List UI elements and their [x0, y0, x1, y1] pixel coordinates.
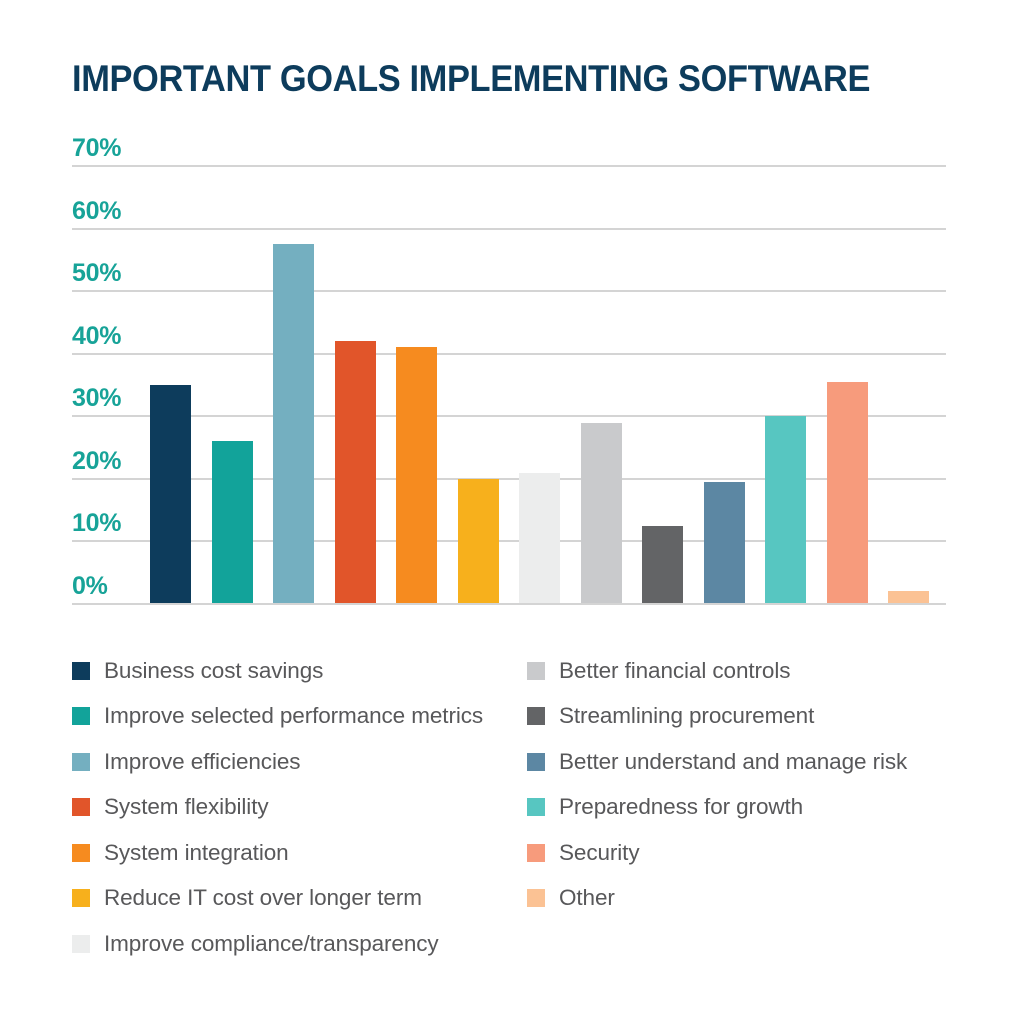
bar: [458, 479, 499, 604]
legend-item-label: Improve compliance/transparency: [104, 931, 439, 957]
y-axis-tick-label: 60%: [72, 199, 121, 224]
legend-item[interactable]: Other: [527, 876, 987, 922]
legend-swatch-icon: [72, 662, 90, 680]
legend-item[interactable]: Reduce IT cost over longer term: [72, 876, 532, 922]
bar: [519, 473, 560, 604]
legend-item-label: Other: [559, 885, 615, 911]
legend-column-left: Business cost savingsImprove selected pe…: [72, 648, 532, 967]
legend-item-label: Streamlining procurement: [559, 703, 814, 729]
legend-item[interactable]: Improve selected performance metrics: [72, 694, 532, 740]
y-axis-tick-label: 50%: [72, 261, 121, 286]
chart-page: IMPORTANT GOALS IMPLEMENTING SOFTWARE 70…: [0, 0, 1024, 1024]
legend-swatch-icon: [527, 844, 545, 862]
legend-item[interactable]: System flexibility: [72, 785, 532, 831]
bar: [827, 382, 868, 604]
legend-item-label: Security: [559, 840, 639, 866]
bar: [212, 441, 253, 604]
legend-swatch-icon: [72, 889, 90, 907]
bar: [273, 244, 314, 604]
legend-item-label: Reduce IT cost over longer term: [104, 885, 422, 911]
legend-item[interactable]: System integration: [72, 830, 532, 876]
legend: Business cost savingsImprove selected pe…: [72, 648, 982, 978]
bar: [581, 423, 622, 604]
y-axis-tick-label: 10%: [72, 511, 121, 536]
legend-item[interactable]: Better understand and manage risk: [527, 739, 987, 785]
legend-item-label: System integration: [104, 840, 289, 866]
legend-item[interactable]: Improve compliance/transparency: [72, 921, 532, 967]
legend-swatch-icon: [527, 662, 545, 680]
legend-item-label: System flexibility: [104, 794, 269, 820]
legend-item-label: Improve selected performance metrics: [104, 703, 483, 729]
legend-item[interactable]: Improve efficiencies: [72, 739, 532, 785]
legend-item[interactable]: Security: [527, 830, 987, 876]
legend-swatch-icon: [527, 798, 545, 816]
bar: [704, 482, 745, 604]
y-axis-tick-label: 0%: [72, 574, 108, 599]
y-axis-tick-label: 70%: [72, 136, 121, 161]
legend-swatch-icon: [72, 798, 90, 816]
bar: [150, 385, 191, 604]
legend-swatch-icon: [527, 707, 545, 725]
bar: [396, 347, 437, 604]
legend-swatch-icon: [72, 844, 90, 862]
legend-swatch-icon: [527, 889, 545, 907]
legend-item[interactable]: Preparedness for growth: [527, 785, 987, 831]
bar: [335, 341, 376, 604]
bars-container: [140, 0, 946, 640]
plot-area: 70%60%50%40%30%20%10%0%: [0, 0, 1024, 640]
legend-item-label: Better financial controls: [559, 658, 790, 684]
legend-item-label: Better understand and manage risk: [559, 749, 907, 775]
bar: [765, 416, 806, 604]
legend-column-right: Better financial controlsStreamlining pr…: [527, 648, 987, 921]
legend-swatch-icon: [72, 935, 90, 953]
y-axis-tick-label: 20%: [72, 449, 121, 474]
legend-item[interactable]: Streamlining procurement: [527, 694, 987, 740]
legend-item[interactable]: Better financial controls: [527, 648, 987, 694]
y-axis-tick-label: 40%: [72, 324, 121, 349]
bar: [642, 526, 683, 604]
legend-swatch-icon: [72, 753, 90, 771]
legend-item[interactable]: Business cost savings: [72, 648, 532, 694]
legend-swatch-icon: [527, 753, 545, 771]
legend-item-label: Preparedness for growth: [559, 794, 803, 820]
y-axis-tick-label: 30%: [72, 386, 121, 411]
legend-swatch-icon: [72, 707, 90, 725]
baseline: [72, 603, 946, 605]
legend-item-label: Improve efficiencies: [104, 749, 300, 775]
legend-item-label: Business cost savings: [104, 658, 323, 684]
